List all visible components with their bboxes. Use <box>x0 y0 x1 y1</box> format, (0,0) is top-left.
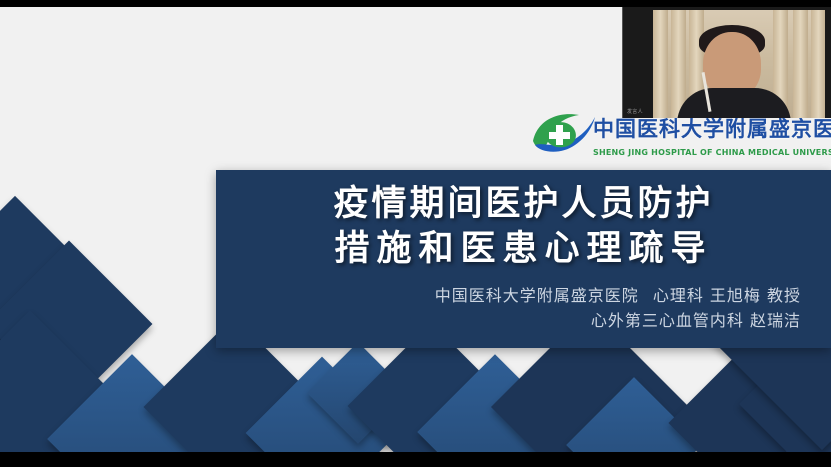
hospital-logo: 中国医科大学附属盛京医院 SHENG JING HOSPITAL OF CHIN… <box>531 111 806 167</box>
decor-diamond <box>246 357 399 452</box>
decor-diamond <box>47 354 217 452</box>
hospital-logo-english-name: SHENG JING HOSPITAL OF CHINA MEDICAL UNI… <box>593 148 831 157</box>
presentation-screen: 疫情期间医护人员防护 措施和医患心理疏导 中国医科大学附属盛京医院心理科 王旭梅… <box>0 0 831 467</box>
title-line-1: 疫情期间医护人员防护 <box>216 182 831 227</box>
title-banner: 疫情期间医护人员防护 措施和医患心理疏导 中国医科大学附属盛京医院心理科 王旭梅… <box>216 170 831 348</box>
subtitle-line-2: 心外第三心血管内科 赵瑞洁 <box>216 308 801 333</box>
subtitle-presenter-1: 心理科 王旭梅 教授 <box>653 286 801 305</box>
decor-diamond <box>0 196 121 408</box>
letterbox-bar-top <box>0 0 831 7</box>
title-block: 疫情期间医护人员防护 措施和医患心理疏导 <box>216 182 831 272</box>
decor-diamond <box>566 377 702 452</box>
subtitle-affiliation: 中国医科大学附属盛京医院 <box>435 286 639 305</box>
hospital-logo-mark-icon <box>531 111 597 155</box>
background-curtain <box>793 10 808 118</box>
video-frame <box>653 10 825 118</box>
decor-diamond <box>0 310 122 452</box>
decor-diamond <box>417 354 573 452</box>
video-speaker-label: 发言人 <box>627 108 643 115</box>
subtitle-line-1: 中国医科大学附属盛京医院心理科 王旭梅 教授 <box>216 283 801 308</box>
decor-diamond <box>0 241 152 408</box>
title-line-2: 措施和医患心理疏导 <box>216 227 831 272</box>
subtitle-presenter-2: 心外第三心血管内科 赵瑞洁 <box>591 311 801 330</box>
background-curtain <box>653 10 668 118</box>
video-thumbnail[interactable]: 发言人 <box>622 0 831 118</box>
speaker-torso <box>677 88 791 118</box>
letterbox-bar-bottom <box>0 452 831 467</box>
background-curtain <box>811 10 825 118</box>
decor-diamond <box>668 349 815 452</box>
decor-diamond <box>307 342 409 444</box>
subtitle-block: 中国医科大学附属盛京医院心理科 王旭梅 教授 心外第三心血管内科 赵瑞洁 <box>216 283 816 333</box>
